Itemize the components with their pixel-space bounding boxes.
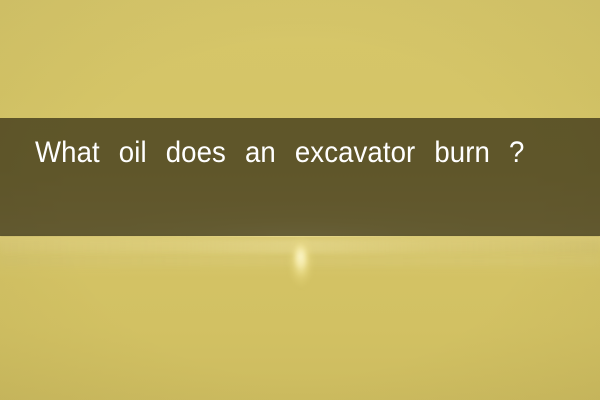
screenshot-root: What oil does an excavator burn ? (0, 0, 600, 400)
caption-title: What oil does an excavator burn ? (35, 133, 524, 173)
